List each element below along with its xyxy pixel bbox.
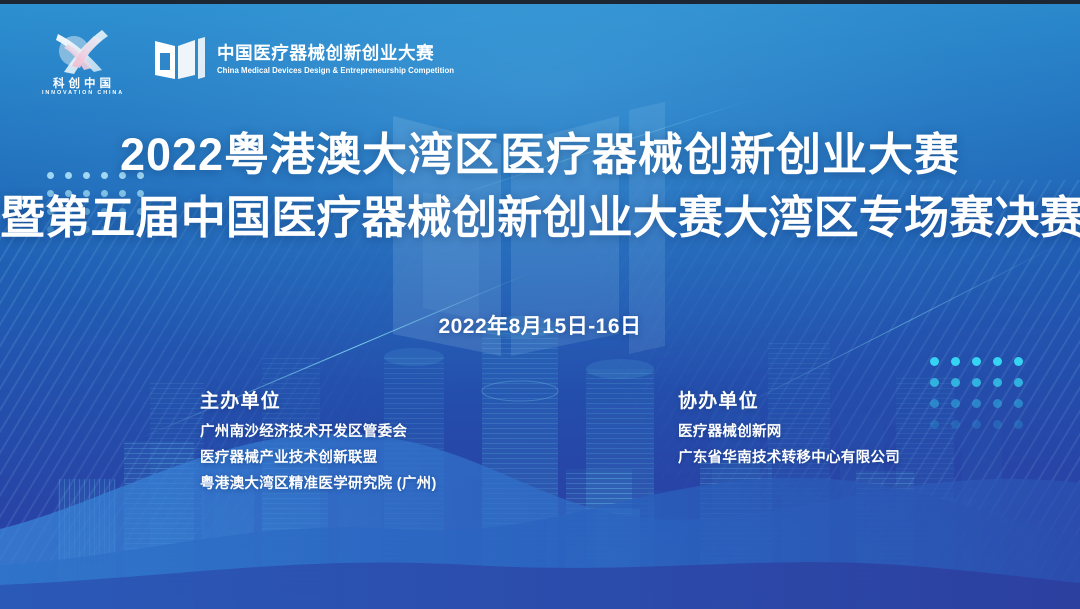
china-medical-devices-competition-logo[interactable]: 中国医疗器械创新创业大赛 China Medical Devices Desig… [154,37,467,83]
header-logos: 科创中国 INNOVATION CHINA 中国医疗器械创新创业大赛 China… [36,24,467,97]
bottom-waves-decoration [0,379,1080,609]
event-date: 2022年8月15日-16日 [0,310,1080,340]
banner-titles: 2022粤港澳大湾区医疗器械创新创业大赛 暨第五届中国医疗器械创新创业大赛大湾区… [0,128,1080,244]
organizer-item: 医疗器械产业技术创新联盟 [200,448,437,469]
organizer-item: 医疗器械创新网 [678,422,900,443]
organizer-heading-co-host: 协办单位 [678,386,900,413]
organizer-item: 粤港澳大湾区精准医学研究院 (广州) [200,474,437,495]
organizer-item: 广州南沙经济技术开发区管委会 [200,422,437,443]
competition-logo-cn: 中国医疗器械创新创业大赛 [217,44,467,64]
innovation-china-logo-cn: 科创中国 [49,78,115,90]
top-strip [0,0,1080,4]
dot-grid-right [930,357,1035,441]
event-banner: 科创中国 INNOVATION CHINA 中国医疗器械创新创业大赛 China… [0,0,1080,609]
innovation-china-logo[interactable]: 科创中国 INNOVATION CHINA [36,24,128,97]
open-book-door-mark-icon [154,37,206,83]
butterfly-ribbon-mark-icon [44,24,120,76]
page-title-line-2: 暨第五届中国医疗器械创新创业大赛大湾区专场赛决赛 [0,191,1080,244]
organizer-block-host: 主办单位 广州南沙经济技术开发区管委会 医疗器械产业技术创新联盟 粤港澳大湾区精… [200,386,437,500]
organizer-item: 广东省华南技术转移中心有限公司 [678,448,900,469]
organizer-block-co-host: 协办单位 医疗器械创新网 广东省华南技术转移中心有限公司 [678,386,900,474]
competition-logo-en: China Medical Devices Design & Entrepren… [217,66,454,76]
organizer-heading-host: 主办单位 [200,386,437,413]
innovation-china-logo-en: INNOVATION CHINA [40,90,124,96]
page-title-line-1: 2022粤港澳大湾区医疗器械创新创业大赛 [0,128,1080,181]
